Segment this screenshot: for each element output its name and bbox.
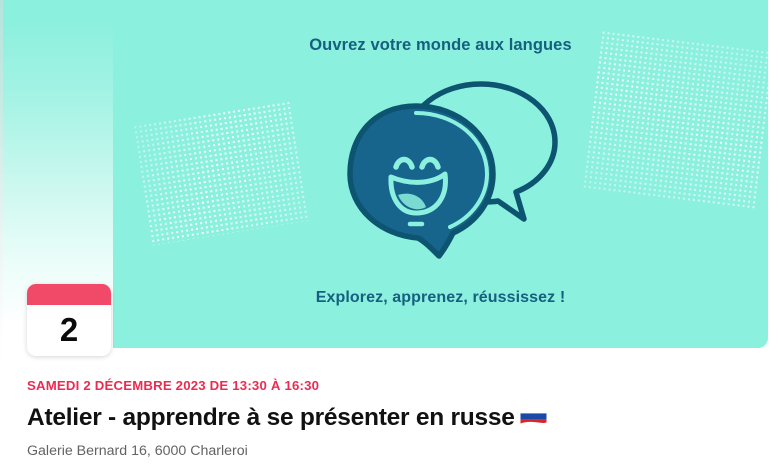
event-date: SAMEDI 2 DÉCEMBRE 2023 DE 13:30 À 16:30 [27,378,747,394]
calendar-chip-day: 2 [27,305,111,356]
russian-flag-icon [520,404,547,423]
speech-bubbles-illustration [338,78,568,268]
halftone-dot-rectangle-left-icon [132,100,309,246]
event-location: Galerie Bernard 16, 6000 Charleroi [27,442,747,460]
calendar-chip-band [27,284,111,305]
halftone-dot-rectangle-right-icon [582,30,768,210]
banner-tagline: Explorez, apprenez, réussissez ! [113,289,768,307]
event-info: SAMEDI 2 DÉCEMBRE 2023 DE 13:30 À 16:30 … [27,378,747,460]
event-banner[interactable]: Ouvrez votre monde aux langues [113,0,768,348]
calendar-chip: 2 [27,284,111,356]
banner-headline: Ouvrez votre monde aux langues [113,36,768,55]
event-title-text: Atelier - apprendre à se présenter en ru… [27,404,515,431]
event-card[interactable]: Ouvrez votre monde aux langues [0,0,778,475]
left-edge-shadow [0,0,3,362]
event-title: Atelier - apprendre à se présenter en ru… [27,403,747,433]
speech-bubbles-icon [338,78,568,268]
